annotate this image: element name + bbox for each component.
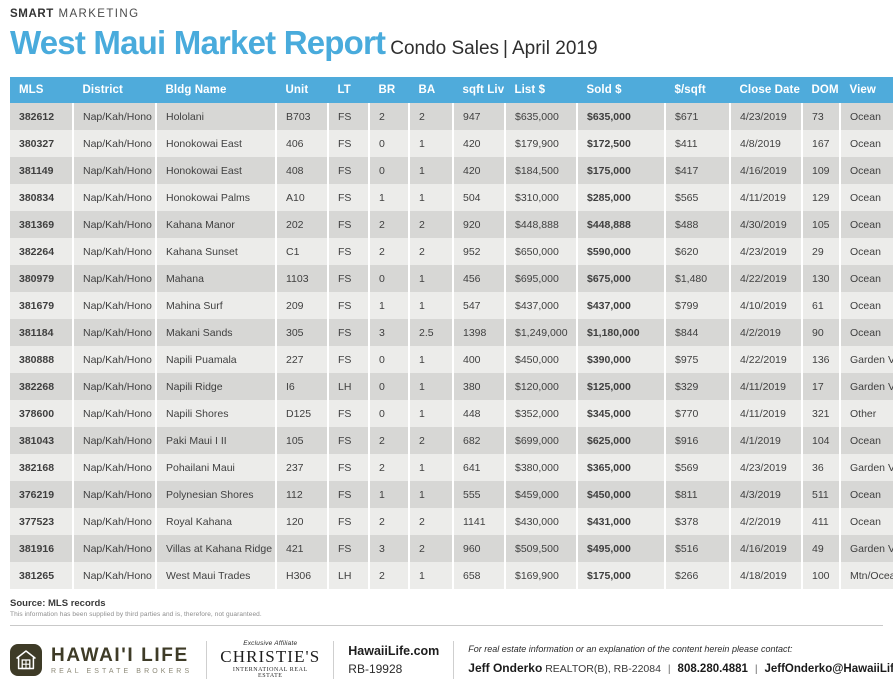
cell-dom: 321: [802, 400, 840, 427]
cell-dom: 109: [802, 157, 840, 184]
cell-mls[interactable]: 377523: [10, 508, 73, 535]
cell-br: 2: [369, 103, 409, 130]
cell-sqft: $411: [665, 130, 730, 157]
cell-unit: 406: [276, 130, 328, 157]
table-row: 376219Nap/Kah/HonoPolynesian Shores112FS…: [10, 481, 893, 508]
table-body: 382612Nap/Kah/HonoHololaniB703FS22947$63…: [10, 103, 893, 589]
cell-ba: 2: [409, 238, 453, 265]
agent-phone[interactable]: 808.280.4881: [678, 663, 748, 675]
cell-ba: 1: [409, 481, 453, 508]
cell-br: 2: [369, 211, 409, 238]
cell-sqft-liv: 641: [453, 454, 505, 481]
contact-pipe-2: |: [751, 663, 762, 675]
cell-mls[interactable]: 382612: [10, 103, 73, 130]
cell-district: Nap/Kah/Hono: [73, 427, 156, 454]
cell-unit: I6: [276, 373, 328, 400]
cell-district: Nap/Kah/Hono: [73, 265, 156, 292]
cell-lt: LH: [328, 373, 369, 400]
cell-lt: FS: [328, 481, 369, 508]
cell-mls[interactable]: 382168: [10, 454, 73, 481]
cell-sqft-liv: 555: [453, 481, 505, 508]
cell-view: Ocean: [840, 130, 893, 157]
table-row: 380834Nap/Kah/HonoHonokowai PalmsA10FS11…: [10, 184, 893, 211]
cell-district: Nap/Kah/Hono: [73, 535, 156, 562]
cell-lt: FS: [328, 184, 369, 211]
cell-close-date: 4/2/2019: [730, 319, 802, 346]
cell-district: Nap/Kah/Hono: [73, 400, 156, 427]
cell-ba: 2: [409, 535, 453, 562]
cell-ba: 2: [409, 508, 453, 535]
cell-br: 2: [369, 454, 409, 481]
cell-sqft-liv: 952: [453, 238, 505, 265]
cell-list: $1,249,000: [505, 319, 577, 346]
cell-lt: FS: [328, 130, 369, 157]
cell-district: Nap/Kah/Hono: [73, 130, 156, 157]
cell-br: 0: [369, 157, 409, 184]
tagline-smart: SMART: [10, 8, 54, 20]
cell-lt: FS: [328, 265, 369, 292]
cell-list: $509,500: [505, 535, 577, 562]
cell-view: Garden View: [840, 373, 893, 400]
contact-intro: For real estate information or an explan…: [468, 645, 893, 654]
christies-subtitle: INTERNATIONAL REAL ESTATE: [220, 667, 320, 679]
cell-sqft: $975: [665, 346, 730, 373]
cell-close-date: 4/22/2019: [730, 346, 802, 373]
cell-dom: 105: [802, 211, 840, 238]
cell-unit: 237: [276, 454, 328, 481]
cell-bldg-name: Makani Sands: [156, 319, 276, 346]
cell-br: 2: [369, 508, 409, 535]
cell-bldg-name: Pohailani Maui: [156, 454, 276, 481]
column-header-dom[interactable]: DOM: [802, 77, 840, 103]
cell-br: 2: [369, 562, 409, 589]
cell-lt: FS: [328, 454, 369, 481]
cell-list: $310,000: [505, 184, 577, 211]
cell-sqft-liv: 547: [453, 292, 505, 319]
cell-sqft-liv: 1141: [453, 508, 505, 535]
contact-details: Jeff Onderko REALTOR(B), RB-22084 | 808.…: [468, 662, 893, 676]
brokerage-license: RB-19928: [348, 663, 439, 675]
cell-bldg-name: Honokowai East: [156, 157, 276, 184]
brand-text: HAWAI'I LIFE REAL ESTATE BROKERS: [51, 646, 192, 675]
cell-sold: $431,000: [577, 508, 665, 535]
cell-br: 1: [369, 184, 409, 211]
cell-district: Nap/Kah/Hono: [73, 157, 156, 184]
cell-sqft: $1,480: [665, 265, 730, 292]
table-row: 381679Nap/Kah/HonoMahina Surf209FS11547$…: [10, 292, 893, 319]
cell-br: 0: [369, 265, 409, 292]
christies-affiliate-logo: Exclusive Affiliate CHRISTIE'S INTERNATI…: [207, 641, 333, 680]
column-header-sqft-liv[interactable]: sqft Liv: [453, 77, 505, 103]
cell-close-date: 4/16/2019: [730, 535, 802, 562]
cell-view: Garden View: [840, 535, 893, 562]
cell-bldg-name: Mahana: [156, 265, 276, 292]
cell-sqft-liv: 504: [453, 184, 505, 211]
cell-view: Ocean: [840, 238, 893, 265]
subtitle-category: Condo Sales: [390, 38, 499, 59]
cell-district: Nap/Kah/Hono: [73, 562, 156, 589]
cell-sqft-liv: 448: [453, 400, 505, 427]
contact-pipe-1: |: [664, 663, 675, 675]
cell-dom: 29: [802, 238, 840, 265]
cell-sqft: $565: [665, 184, 730, 211]
cell-br: 1: [369, 481, 409, 508]
cell-mls[interactable]: 382264: [10, 238, 73, 265]
table-row: 378600Nap/Kah/HonoNapili ShoresD125FS014…: [10, 400, 893, 427]
cell-district: Nap/Kah/Hono: [73, 238, 156, 265]
website-block: HawaiiLife.com RB-19928: [334, 645, 453, 676]
table-row: 381149Nap/Kah/HonoHonokowai East408FS014…: [10, 157, 893, 184]
cell-sold: $675,000: [577, 265, 665, 292]
cell-mls[interactable]: 381916: [10, 535, 73, 562]
cell-unit: D125: [276, 400, 328, 427]
cell-unit: 112: [276, 481, 328, 508]
cell-br: 3: [369, 535, 409, 562]
table-row: 382612Nap/Kah/HonoHololaniB703FS22947$63…: [10, 103, 893, 130]
cell-view: Ocean: [840, 292, 893, 319]
cell-sold: $285,000: [577, 184, 665, 211]
column-header-lt[interactable]: LT: [328, 77, 369, 103]
cell-lt: FS: [328, 535, 369, 562]
cell-ba: 1: [409, 373, 453, 400]
cell-unit: C1: [276, 238, 328, 265]
cell-mls[interactable]: 382268: [10, 373, 73, 400]
column-header-district[interactable]: District: [73, 77, 156, 103]
sales-table: MLSDistrictBldg NameUnitLTBRBAsqft LivLi…: [10, 77, 893, 589]
cell-sqft: $417: [665, 157, 730, 184]
cell-dom: 129: [802, 184, 840, 211]
cell-unit: H306: [276, 562, 328, 589]
cell-lt: FS: [328, 427, 369, 454]
cell-sold: $390,000: [577, 346, 665, 373]
brand-subtitle: REAL ESTATE BROKERS: [51, 668, 192, 675]
cell-mls[interactable]: 380327: [10, 130, 73, 157]
cell-dom: 511: [802, 481, 840, 508]
cell-sqft-liv: 960: [453, 535, 505, 562]
column-header-view[interactable]: View: [840, 77, 893, 103]
table-row: 381184Nap/Kah/HonoMakani Sands305FS32.51…: [10, 319, 893, 346]
cell-bldg-name: Kahana Sunset: [156, 238, 276, 265]
cell-list: $695,000: [505, 265, 577, 292]
cell-list: $448,888: [505, 211, 577, 238]
cell-mls[interactable]: 381043: [10, 427, 73, 454]
cell-sqft: $844: [665, 319, 730, 346]
cell-close-date: 4/23/2019: [730, 238, 802, 265]
cell-list: $437,000: [505, 292, 577, 319]
cell-dom: 136: [802, 346, 840, 373]
cell-sold: $495,000: [577, 535, 665, 562]
cell-ba: 1: [409, 454, 453, 481]
cell-lt: FS: [328, 211, 369, 238]
cell-dom: 36: [802, 454, 840, 481]
table-row: 381043Nap/Kah/HonoPaki Maui I II105FS226…: [10, 427, 893, 454]
cell-view: Ocean: [840, 157, 893, 184]
cell-sold: $175,000: [577, 562, 665, 589]
cell-br: 3: [369, 319, 409, 346]
cell-close-date: 4/10/2019: [730, 292, 802, 319]
footer: HAWAI'I LIFE REAL ESTATE BROKERS Exclusi…: [10, 637, 883, 683]
cell-dom: 61: [802, 292, 840, 319]
masthead: SMART MARKETING West Maui Market ReportC…: [10, 0, 883, 67]
cell-view: Garden View: [840, 346, 893, 373]
cell-sqft: $799: [665, 292, 730, 319]
cell-sqft-liv: 456: [453, 265, 505, 292]
footer-divider: [10, 625, 883, 626]
table-row: 381265Nap/Kah/HonoWest Maui TradesH306LH…: [10, 562, 893, 589]
cell-district: Nap/Kah/Hono: [73, 346, 156, 373]
cell-lt: FS: [328, 157, 369, 184]
cell-ba: 1: [409, 130, 453, 157]
cell-dom: 100: [802, 562, 840, 589]
cell-close-date: 4/23/2019: [730, 103, 802, 130]
cell-close-date: 4/18/2019: [730, 562, 802, 589]
cell-list: $169,900: [505, 562, 577, 589]
cell-mls[interactable]: 380979: [10, 265, 73, 292]
cell-view: Ocean: [840, 319, 893, 346]
cell-close-date: 4/16/2019: [730, 157, 802, 184]
cell-list: $650,000: [505, 238, 577, 265]
cell-bldg-name: Kahana Manor: [156, 211, 276, 238]
cell-sqft-liv: 682: [453, 427, 505, 454]
cell-dom: 73: [802, 103, 840, 130]
cell-br: 0: [369, 373, 409, 400]
cell-sqft-liv: 420: [453, 130, 505, 157]
contact-block: For real estate information or an explan…: [454, 645, 893, 676]
cell-mls[interactable]: 381149: [10, 157, 73, 184]
cell-close-date: 4/8/2019: [730, 130, 802, 157]
table-row: 382268Nap/Kah/HonoNapili RidgeI6LH01380$…: [10, 373, 893, 400]
cell-bldg-name: Hololani: [156, 103, 276, 130]
cell-district: Nap/Kah/Hono: [73, 454, 156, 481]
cell-view: Ocean: [840, 508, 893, 535]
cell-mls[interactable]: 378600: [10, 400, 73, 427]
cell-list: $352,000: [505, 400, 577, 427]
cell-district: Nap/Kah/Hono: [73, 481, 156, 508]
column-header-unit[interactable]: Unit: [276, 77, 328, 103]
cell-ba: 1: [409, 400, 453, 427]
cell-list: $459,000: [505, 481, 577, 508]
cell-lt: FS: [328, 400, 369, 427]
cell-bldg-name: Mahina Surf: [156, 292, 276, 319]
cell-br: 1: [369, 292, 409, 319]
column-header-ba[interactable]: BA: [409, 77, 453, 103]
cell-bldg-name: Napili Puamala: [156, 346, 276, 373]
cell-sold: $175,000: [577, 157, 665, 184]
cell-sqft: $378: [665, 508, 730, 535]
cell-list: $450,000: [505, 346, 577, 373]
cell-bldg-name: Villas at Kahana Ridge: [156, 535, 276, 562]
column-header-sqft[interactable]: $/sqft: [665, 77, 730, 103]
table-row: 382264Nap/Kah/HonoKahana SunsetC1FS22952…: [10, 238, 893, 265]
cell-bldg-name: West Maui Trades: [156, 562, 276, 589]
cell-list: $635,000: [505, 103, 577, 130]
cell-close-date: 4/2/2019: [730, 508, 802, 535]
cell-bldg-name: Napili Ridge: [156, 373, 276, 400]
cell-dom: 90: [802, 319, 840, 346]
cell-view: Mtn/Ocean: [840, 562, 893, 589]
cell-sold: $345,000: [577, 400, 665, 427]
cell-lt: FS: [328, 292, 369, 319]
cell-district: Nap/Kah/Hono: [73, 103, 156, 130]
cell-ba: 1: [409, 346, 453, 373]
cell-bldg-name: Honokowai East: [156, 130, 276, 157]
cell-district: Nap/Kah/Hono: [73, 211, 156, 238]
page-subtitle: Condo Sales|April 2019: [385, 38, 597, 59]
cell-dom: 130: [802, 265, 840, 292]
cell-mls[interactable]: 381369: [10, 211, 73, 238]
table-row: 381369Nap/Kah/HonoKahana Manor202FS22920…: [10, 211, 893, 238]
cell-ba: 1: [409, 265, 453, 292]
cell-list: $179,900: [505, 130, 577, 157]
cell-mls[interactable]: 381679: [10, 292, 73, 319]
cell-unit: 105: [276, 427, 328, 454]
brand-name: HAWAI'I LIFE: [51, 646, 192, 665]
cell-dom: 411: [802, 508, 840, 535]
cell-close-date: 4/30/2019: [730, 211, 802, 238]
column-header-br[interactable]: BR: [369, 77, 409, 103]
cell-sold: $437,000: [577, 292, 665, 319]
cell-view: Ocean: [840, 184, 893, 211]
table-header: MLSDistrictBldg NameUnitLTBRBAsqft LivLi…: [10, 77, 893, 103]
cell-ba: 1: [409, 562, 453, 589]
cell-unit: 1103: [276, 265, 328, 292]
cell-sold: $448,888: [577, 211, 665, 238]
cell-unit: 305: [276, 319, 328, 346]
cell-lt: FS: [328, 508, 369, 535]
cell-list: $430,000: [505, 508, 577, 535]
cell-view: Ocean: [840, 103, 893, 130]
cell-sqft-liv: 947: [453, 103, 505, 130]
cell-dom: 49: [802, 535, 840, 562]
agent-email[interactable]: JeffOnderko@HawaiiLife.com: [764, 663, 893, 675]
website-link[interactable]: HawaiiLife.com: [348, 645, 439, 658]
cell-bldg-name: Royal Kahana: [156, 508, 276, 535]
source-disclaimer: This information has been supplied by th…: [10, 610, 883, 620]
cell-mls[interactable]: 381184: [10, 319, 73, 346]
cell-close-date: 4/11/2019: [730, 184, 802, 211]
christies-name: CHRISTIE'S: [220, 648, 320, 665]
cell-bldg-name: Honokowai Palms: [156, 184, 276, 211]
cell-sold: $450,000: [577, 481, 665, 508]
cell-unit: B703: [276, 103, 328, 130]
cell-sqft: $916: [665, 427, 730, 454]
cell-sqft-liv: 658: [453, 562, 505, 589]
column-header-sold[interactable]: Sold $: [577, 77, 665, 103]
cell-list: $184,500: [505, 157, 577, 184]
table-row: 381916Nap/Kah/HonoVillas at Kahana Ridge…: [10, 535, 893, 562]
cell-list: $120,000: [505, 373, 577, 400]
cell-bldg-name: Napili Shores: [156, 400, 276, 427]
cell-mls[interactable]: 376219: [10, 481, 73, 508]
market-report-page: SMART MARKETING West Maui Market ReportC…: [0, 0, 893, 694]
table-row: 380888Nap/Kah/HonoNapili Puamala227FS014…: [10, 346, 893, 373]
cell-sold: $625,000: [577, 427, 665, 454]
cell-ba: 2: [409, 427, 453, 454]
column-header-close-date[interactable]: Close Date: [730, 77, 802, 103]
cell-unit: 209: [276, 292, 328, 319]
cell-sqft-liv: 400: [453, 346, 505, 373]
cell-lt: FS: [328, 319, 369, 346]
cell-unit: 120: [276, 508, 328, 535]
cell-lt: FS: [328, 103, 369, 130]
cell-sqft: $488: [665, 211, 730, 238]
cell-mls[interactable]: 380888: [10, 346, 73, 373]
cell-unit: 227: [276, 346, 328, 373]
cell-dom: 17: [802, 373, 840, 400]
brand-tagline: SMART MARKETING: [10, 7, 883, 21]
cell-close-date: 4/11/2019: [730, 373, 802, 400]
cell-sqft: $770: [665, 400, 730, 427]
cell-dom: 104: [802, 427, 840, 454]
cell-sold: $125,000: [577, 373, 665, 400]
cell-district: Nap/Kah/Hono: [73, 373, 156, 400]
cell-district: Nap/Kah/Hono: [73, 292, 156, 319]
cell-view: Ocean: [840, 265, 893, 292]
table-row: 380327Nap/Kah/HonoHonokowai East406FS014…: [10, 130, 893, 157]
cell-view: Garden View: [840, 454, 893, 481]
cell-close-date: 4/22/2019: [730, 265, 802, 292]
cell-br: 0: [369, 130, 409, 157]
cell-sold: $172,500: [577, 130, 665, 157]
cell-unit: 408: [276, 157, 328, 184]
agent-license: REALTOR(B), RB-22084: [545, 663, 661, 675]
tagline-marketing: MARKETING: [54, 8, 140, 20]
cell-unit: A10: [276, 184, 328, 211]
cell-district: Nap/Kah/Hono: [73, 508, 156, 535]
cell-sold: $590,000: [577, 238, 665, 265]
cell-unit: 421: [276, 535, 328, 562]
cell-view: Ocean: [840, 481, 893, 508]
cell-sqft-liv: 420: [453, 157, 505, 184]
table-row: 382168Nap/Kah/HonoPohailani Maui237FS216…: [10, 454, 893, 481]
cell-ba: 1: [409, 157, 453, 184]
page-title: West Maui Market Report: [10, 24, 385, 61]
cell-br: 0: [369, 346, 409, 373]
cell-mls[interactable]: 381265: [10, 562, 73, 589]
cell-mls[interactable]: 380834: [10, 184, 73, 211]
cell-sold: $635,000: [577, 103, 665, 130]
cell-view: Ocean: [840, 427, 893, 454]
cell-sqft: $329: [665, 373, 730, 400]
hawaii-life-logo[interactable]: HAWAI'I LIFE REAL ESTATE BROKERS: [10, 644, 206, 676]
cell-close-date: 4/23/2019: [730, 454, 802, 481]
cell-list: $699,000: [505, 427, 577, 454]
cell-ba: 1: [409, 292, 453, 319]
cell-br: 0: [369, 400, 409, 427]
cell-view: Other: [840, 400, 893, 427]
cell-sold: $1,180,000: [577, 319, 665, 346]
cell-lt: FS: [328, 238, 369, 265]
cell-br: 2: [369, 427, 409, 454]
cell-bldg-name: Paki Maui I II: [156, 427, 276, 454]
cell-sqft: $811: [665, 481, 730, 508]
source-label: Source: MLS records: [10, 598, 883, 610]
table-header-row: MLSDistrictBldg NameUnitLTBRBAsqft LivLi…: [10, 77, 893, 103]
cell-sqft: $569: [665, 454, 730, 481]
cell-sold: $365,000: [577, 454, 665, 481]
column-header-list[interactable]: List $: [505, 77, 577, 103]
cell-lt: LH: [328, 562, 369, 589]
cell-sqft: $620: [665, 238, 730, 265]
cell-view: Ocean: [840, 211, 893, 238]
column-header-mls[interactable]: MLS: [10, 77, 73, 103]
cell-br: 2: [369, 238, 409, 265]
cell-ba: 2: [409, 103, 453, 130]
cell-sqft-liv: 380: [453, 373, 505, 400]
agent-name: Jeff Onderko: [468, 661, 542, 675]
column-header-bldg-name[interactable]: Bldg Name: [156, 77, 276, 103]
cell-sqft: $266: [665, 562, 730, 589]
